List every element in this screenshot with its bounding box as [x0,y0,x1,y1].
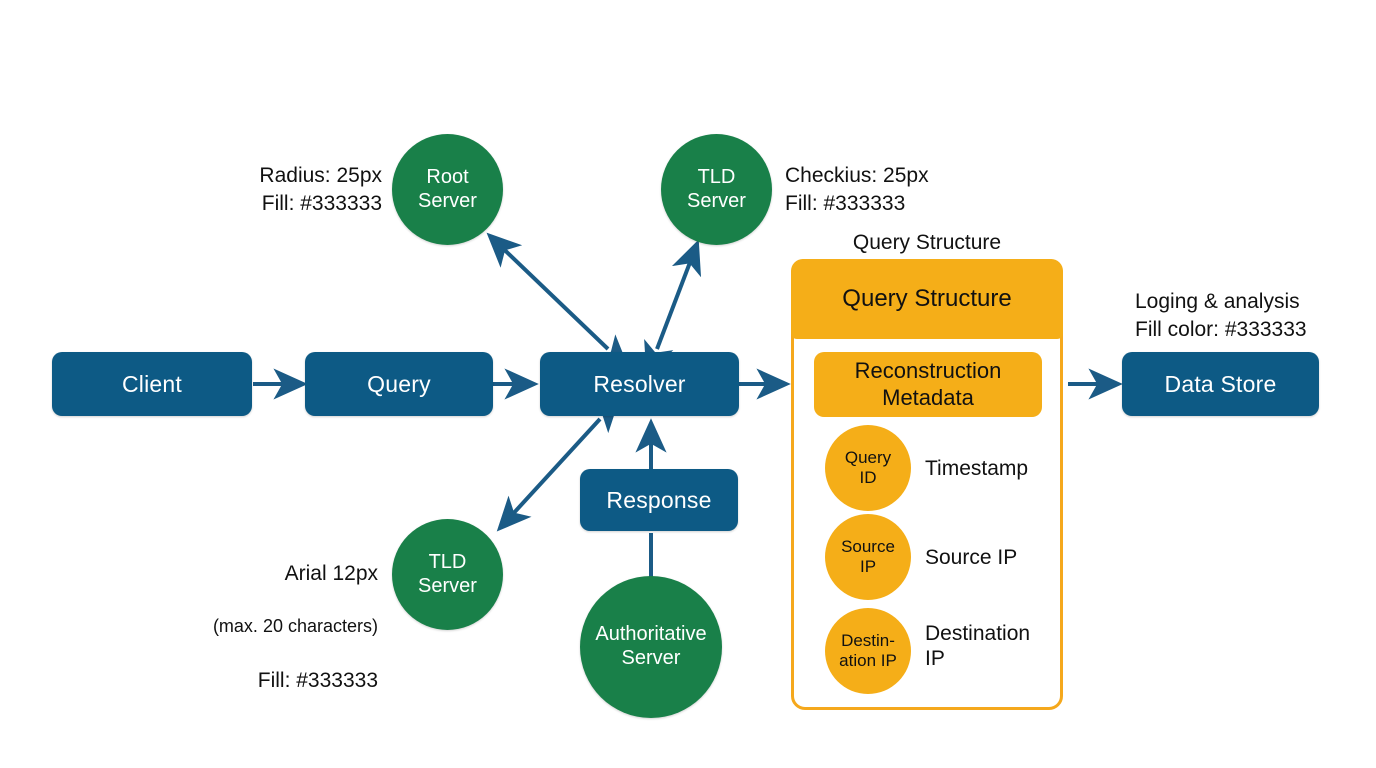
annotation-tld-bottom-line3: Fill: #333333 [128,667,378,695]
server-node-root-server-label: Root Server [418,166,477,213]
field-circle-destination-ip[interactable]: Destin- ation IP [825,608,911,694]
process-box-response[interactable]: Response [580,469,738,531]
field-circle-query-id-label: Query ID [845,448,891,487]
process-box-response-label: Response [606,487,711,514]
reconstruction-metadata-box[interactable]: Reconstruction Metadata [814,352,1042,417]
query-structure-outside-title: Query Structure [791,231,1063,255]
annotation-root-server: Radius: 25px Fill: #333333 [150,162,382,217]
process-box-client-label: Client [122,371,182,398]
field-label-timestamp: Timestamp [925,456,1028,481]
field-circle-source-ip-label: Source IP [841,537,895,576]
annotation-data-store: Loging & analysis Fill color: #333333 [1135,288,1375,343]
query-structure-header: Query Structure [791,259,1063,339]
field-circle-source-ip[interactable]: Source IP [825,514,911,600]
server-node-tld-server-top-label: TLD Server [687,166,746,213]
annotation-tld-server-bottom: Arial 12px (max. 20 characters) Fill: #3… [128,532,378,722]
query-structure-header-label: Query Structure [842,285,1011,313]
field-label-destination-ip: Destination IP [925,621,1030,671]
process-box-data-store[interactable]: Data Store [1122,352,1319,416]
field-label-source-ip: Source IP [925,545,1017,570]
annotation-tld-bottom-line1: Arial 12px [128,560,378,588]
process-box-query[interactable]: Query [305,352,493,416]
process-box-data-store-label: Data Store [1165,371,1277,398]
edge-resolver-root-server [490,236,608,349]
annotation-tld-bottom-line2: (max. 20 characters) [128,615,378,639]
process-box-resolver[interactable]: Resolver [540,352,739,416]
server-node-authoritative-server[interactable]: Authoritative Server [580,576,722,718]
field-circle-destination-ip-label: Destin- ation IP [839,631,897,670]
diagram-canvas: Client Query Resolver Response Data Stor… [0,0,1376,768]
server-node-tld-server-bottom[interactable]: TLD Server [392,519,503,630]
server-node-authoritative-server-label: Authoritative Server [595,623,706,670]
process-box-client[interactable]: Client [52,352,252,416]
process-box-resolver-label: Resolver [593,371,685,398]
field-circle-query-id[interactable]: Query ID [825,425,911,511]
server-node-tld-server-top[interactable]: TLD Server [661,134,772,245]
edge-resolver-tld-server-top [657,244,697,349]
server-node-root-server[interactable]: Root Server [392,134,503,245]
process-box-query-label: Query [367,371,431,398]
reconstruction-metadata-label: Reconstruction Metadata [855,358,1002,411]
server-node-tld-server-bottom-label: TLD Server [418,551,477,598]
annotation-tld-server: Checkius: 25px Fill: #333333 [785,162,1065,217]
